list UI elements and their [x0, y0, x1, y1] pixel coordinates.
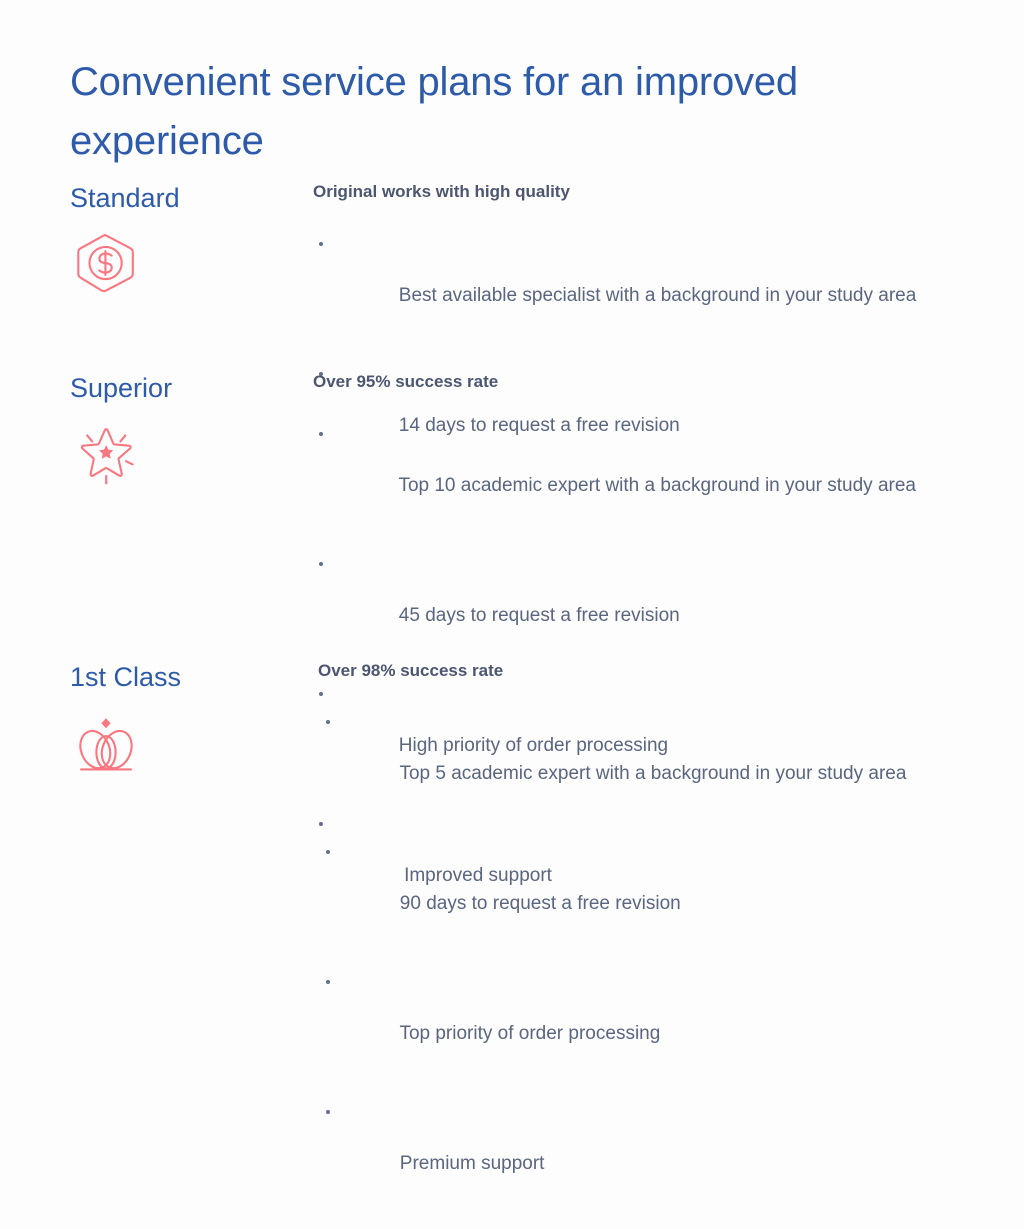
- plan-name: Superior: [70, 370, 290, 406]
- bullet-icon: [319, 562, 323, 566]
- feature-item: Premium support: [318, 1099, 1018, 1203]
- feature-item: Best available specialist with a backgro…: [313, 231, 1013, 335]
- plan-headline: Original works with high quality: [313, 180, 1013, 204]
- feature-item: 45 days to request a free revision: [313, 551, 1013, 655]
- bullet-icon: [326, 1110, 330, 1114]
- feature-text: Top 5 academic expert with a background …: [399, 763, 906, 784]
- feature-text: 90 days to request a free revision: [400, 893, 681, 914]
- bullet-icon: [326, 850, 330, 854]
- pricing-plans-page: Convenient service plans for an improved…: [0, 0, 1024, 945]
- feature-item: Top priority of order processing: [318, 969, 1018, 1073]
- bullet-icon: [326, 980, 330, 984]
- bullet-icon: [326, 720, 330, 724]
- feature-text: Top priority of order processing: [399, 1023, 660, 1044]
- feature-list: Top 5 academic expert with a background …: [318, 709, 1018, 1203]
- bullet-icon: [319, 242, 323, 246]
- sparkle-star-icon: [70, 420, 142, 486]
- plan-identity: 1st Class: [70, 659, 290, 779]
- bullet-icon: [319, 432, 323, 436]
- plan-headline: Over 98% success rate: [318, 659, 1018, 683]
- plan-identity: Standard: [70, 180, 290, 296]
- plan-details: Over 98% success rate Top 5 academic exp…: [318, 659, 1018, 1229]
- feature-text: Premium support: [400, 1153, 545, 1174]
- plan-headline: Over 95% success rate: [313, 370, 1013, 394]
- page-title: Convenient service plans for an improved…: [70, 53, 930, 171]
- feature-item: Top 10 academic expert with a background…: [313, 421, 1013, 525]
- feature-text: 45 days to request a free revision: [399, 605, 680, 626]
- feature-text: Top 10 academic expert with a background…: [398, 475, 916, 496]
- plan-name: Standard: [70, 180, 290, 216]
- hexagon-s-icon: [70, 230, 142, 296]
- feature-item: Top 5 academic expert with a background …: [318, 709, 1018, 813]
- plan-name: 1st Class: [70, 659, 290, 695]
- plan-identity: Superior: [70, 370, 290, 486]
- feature-item: 90 days to request a free revision: [318, 839, 1018, 943]
- crown-icon: [70, 713, 142, 779]
- feature-text: Best available specialist with a backgro…: [399, 285, 917, 306]
